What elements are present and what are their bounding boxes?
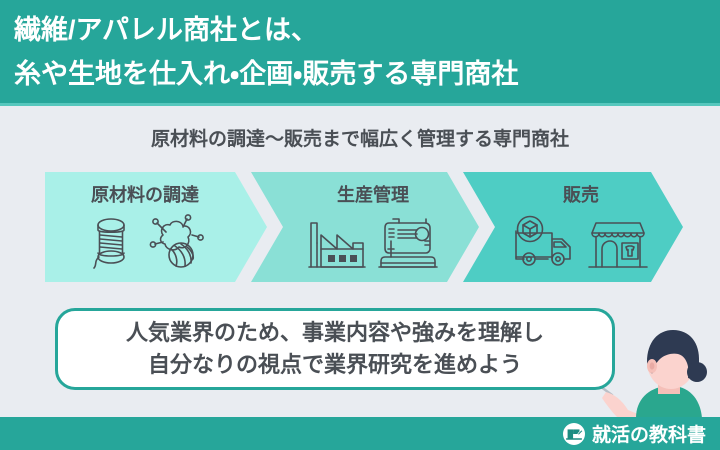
flow-stage-3-icons xyxy=(512,213,650,271)
thread-spool-icon xyxy=(85,213,137,271)
infographic-canvas: 繊維/アパレル商社とは、 糸や生地を仕入れ・企画・販売する専門商社 原材料の調達… xyxy=(0,0,720,450)
flow-stage-procurement: 原材料の調達 xyxy=(45,172,267,282)
storefront-icon xyxy=(586,213,650,271)
flow-stage-production: 生産管理 xyxy=(251,172,479,282)
header-title-line1: 繊維/アパレル商社とは、 xyxy=(14,8,706,52)
flow-stage-1-icons xyxy=(85,213,205,271)
header-banner: 繊維/アパレル商社とは、 糸や生地を仕入れ・企画・販売する専門商社 xyxy=(0,0,720,103)
callout-box: 人気業界のため、事業内容や強みを理解し 自分なりの視点で業界研究を進めよう xyxy=(55,308,615,390)
flow-stage-1-title: 原材料の調達 xyxy=(91,181,199,207)
flow-stage-3-title: 販売 xyxy=(563,181,599,207)
factory-icon xyxy=(307,213,367,271)
flow-stage-2-title: 生産管理 xyxy=(337,181,409,207)
notebook-pencil-icon xyxy=(563,423,585,445)
delivery-truck-icon xyxy=(512,213,576,271)
callout-line1: 人気業界のため、事業内容や強みを理解し xyxy=(126,317,544,349)
flow-stage-2-icons xyxy=(307,213,439,271)
sewing-machine-icon xyxy=(377,213,439,271)
callout-line2: 自分なりの視点で業界研究を進めよう xyxy=(148,349,522,381)
yarn-ball-pins-icon xyxy=(147,213,205,271)
header-title-line2: 糸や生地を仕入れ・企画・販売する専門商社 xyxy=(14,52,706,96)
flow-stage-sales: 販売 xyxy=(463,172,683,282)
header-accent-line xyxy=(0,103,720,106)
subtitle-text: 原材料の調達〜販売まで幅広く管理する専門商社 xyxy=(0,124,720,151)
logo-text: 就活の教科書 xyxy=(592,420,706,447)
process-flow: 原材料の調達 xyxy=(45,172,683,282)
site-logo[interactable]: 就活の教科書 xyxy=(563,418,706,449)
